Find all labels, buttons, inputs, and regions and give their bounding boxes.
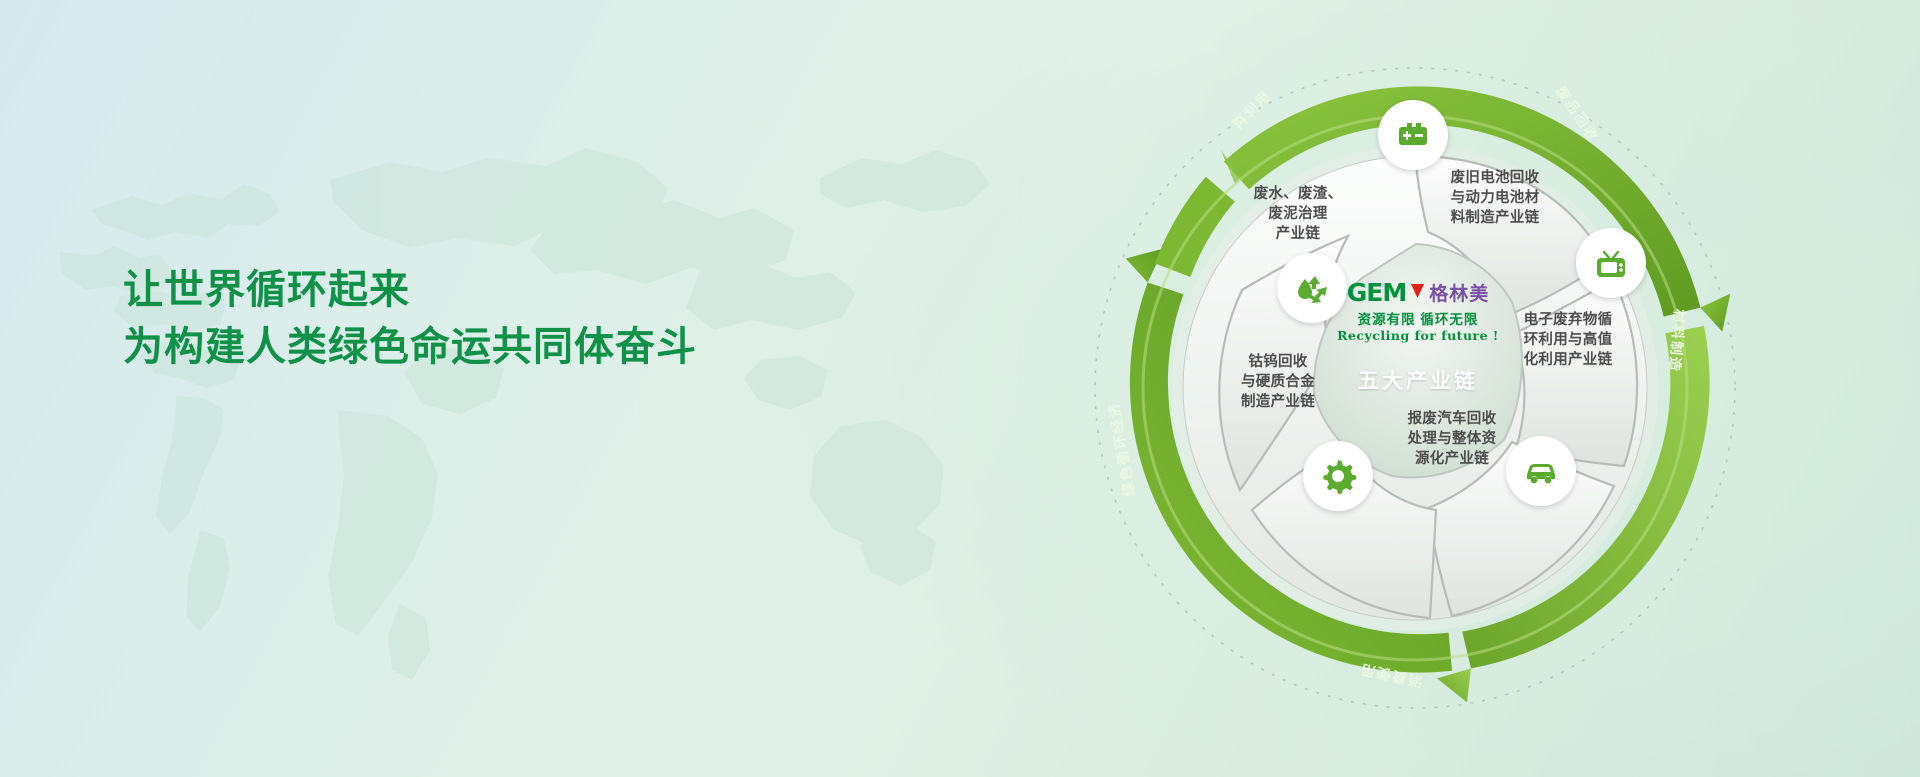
gem-center-logo: GEM 格林美 资源有限 循环无限 Recycling for future !…	[1318, 278, 1518, 395]
battery-icon-bubble[interactable]	[1378, 100, 1448, 170]
battery-icon	[1393, 115, 1433, 155]
television-icon	[1591, 243, 1631, 283]
five-industry-chain-diagram: 废旧电池回收 与动力电池材 料制造产业链 电子废弃物循 环利用与高值 化利用产业…	[1000, 0, 1920, 777]
brand-latin: GEM	[1347, 278, 1406, 307]
brand-slogan-en: Recycling for future !	[1318, 328, 1518, 343]
segment-label-scrap-car: 报废汽车回收 处理与整体资 源化产业链	[1362, 409, 1542, 469]
banner-stage: 让世界循环起来 为构建人类绿色命运共同体奋斗	[0, 0, 1920, 777]
page-title: 让世界循环起来 为构建人类绿色命运共同体奋斗	[123, 262, 883, 376]
television-icon-bubble[interactable]	[1576, 228, 1646, 298]
segment-label-battery: 废旧电池回收 与动力电池材 料制造产业链	[1405, 168, 1585, 228]
headline-line-2: 为构建人类绿色命运共同体奋斗	[123, 319, 883, 376]
headline-line-1: 让世界循环起来	[123, 262, 883, 319]
segment-label-waste-water: 废水、废渣、 废泥治理 产业链	[1208, 184, 1388, 244]
brand-row: GEM 格林美	[1318, 278, 1518, 307]
brand-cn: 格林美	[1429, 279, 1489, 306]
gear-icon	[1317, 455, 1359, 497]
brand-flag-icon	[1411, 284, 1424, 302]
center-caption: 五大产业链	[1318, 365, 1518, 395]
brand-slogan-cn: 资源有限 循环无限	[1318, 308, 1518, 328]
world-map-background	[0, 60, 1020, 700]
